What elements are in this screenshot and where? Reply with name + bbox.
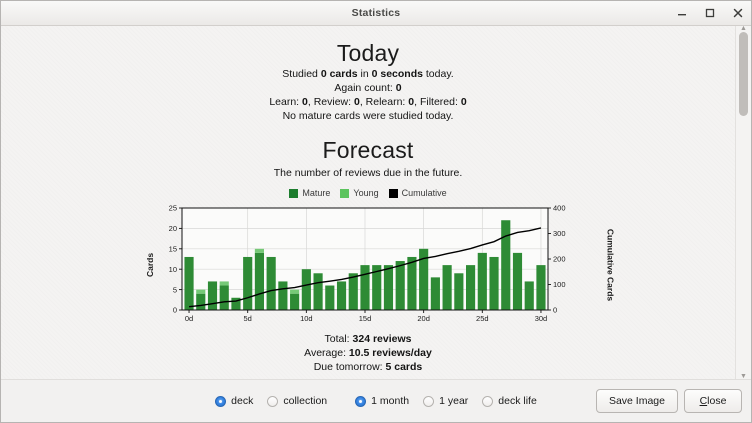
close-button-mnemonic: C — [700, 395, 708, 407]
studied-time: 0 seconds — [372, 68, 423, 80]
minimize-icon[interactable] — [675, 6, 689, 20]
radio-deck-life-indicator[interactable] — [482, 396, 493, 407]
window-controls — [675, 1, 745, 25]
radio-deck-indicator[interactable] — [215, 396, 226, 407]
svg-text:10: 10 — [169, 265, 177, 274]
svg-text:200: 200 — [553, 255, 566, 264]
svg-text:15: 15 — [169, 245, 177, 254]
radio-1-month-label: 1 month — [371, 395, 409, 407]
vertical-scrollbar[interactable]: ▲ ▼ — [735, 26, 751, 379]
today-breakdown-line: Learn: 0, Review: 0, Relearn: 0, Filtere… — [1, 95, 735, 109]
svg-text:10d: 10d — [300, 314, 313, 323]
radio-1-month[interactable]: 1 month — [355, 395, 409, 407]
radio-1-year-indicator[interactable] — [423, 396, 434, 407]
today-mature-line: No mature cards were studied today. — [1, 109, 735, 123]
svg-text:100: 100 — [553, 280, 566, 289]
due-tomorrow-line: Due tomorrow: 5 cards — [1, 360, 735, 374]
today-studied-line: Studied 0 cards in 0 seconds today. — [1, 67, 735, 81]
svg-text:0: 0 — [553, 306, 557, 315]
average-label: Average: — [304, 347, 349, 359]
legend-label-mature: Mature — [302, 188, 330, 198]
stats-scroll-area: Today Studied 0 cards in 0 seconds today… — [1, 26, 735, 379]
window-title: Statistics — [352, 7, 401, 19]
svg-text:5: 5 — [173, 285, 177, 294]
svg-text:20d: 20d — [417, 314, 430, 323]
learn-label: Learn: — [269, 96, 302, 108]
svg-text:25: 25 — [169, 204, 177, 213]
forecast-totals: Total: 324 reviews Average: 10.5 reviews… — [1, 332, 735, 374]
forecast-title: Forecast — [1, 137, 735, 164]
forecast-chart-svg: 051015202501002003004000d5d10d15d20d25d3… — [158, 204, 578, 326]
legend-item-mature: Mature — [289, 188, 330, 198]
y-axis-label-right: Cumulative Cards — [605, 229, 615, 301]
svg-text:25d: 25d — [476, 314, 489, 323]
footer-bar: deck collection 1 month 1 year — [1, 379, 751, 422]
legend-label-cumulative: Cumulative — [402, 188, 447, 198]
svg-text:0d: 0d — [185, 314, 193, 323]
close-icon[interactable] — [731, 6, 745, 20]
review-label: , Review: — [308, 96, 354, 108]
svg-text:5d: 5d — [244, 314, 252, 323]
total-line: Total: 324 reviews — [1, 332, 735, 346]
average-line: Average: 10.5 reviews/day — [1, 346, 735, 360]
y-axis-label-left: Cards — [145, 253, 155, 277]
svg-text:0: 0 — [173, 306, 177, 315]
filtered-value: 0 — [461, 96, 467, 108]
filtered-label: , Filtered: — [414, 96, 461, 108]
legend-swatch-cumulative — [389, 189, 398, 198]
radio-deck[interactable]: deck — [215, 395, 253, 407]
radio-deck-life-label: deck life — [498, 395, 537, 407]
total-value: 324 reviews — [353, 333, 412, 345]
legend-swatch-young — [340, 189, 349, 198]
svg-text:30d: 30d — [535, 314, 548, 323]
radio-1-month-indicator[interactable] — [355, 396, 366, 407]
studied-mid: in — [358, 68, 372, 80]
legend-swatch-mature — [289, 189, 298, 198]
radio-1-year-label: 1 year — [439, 395, 468, 407]
footer-buttons: Save Image Close — [596, 389, 742, 413]
scrollbar-thumb[interactable] — [739, 32, 748, 116]
svg-text:300: 300 — [553, 229, 566, 238]
radio-deck-label: deck — [231, 395, 253, 407]
studied-pre: Studied — [282, 68, 321, 80]
range-radio-group: 1 month 1 year deck life — [355, 395, 537, 407]
due-value: 5 cards — [386, 361, 423, 373]
average-value: 10.5 reviews/day — [349, 347, 432, 359]
legend-item-young: Young — [340, 188, 378, 198]
again-label: Again count: — [334, 82, 395, 94]
forecast-section: Forecast The number of reviews due in th… — [1, 123, 735, 374]
legend-label-young: Young — [353, 188, 378, 198]
studied-cards: 0 cards — [321, 68, 358, 80]
today-title: Today — [1, 40, 735, 67]
relearn-label: , Relearn: — [360, 96, 408, 108]
save-image-button[interactable]: Save Image — [596, 389, 678, 413]
radio-collection-indicator[interactable] — [267, 396, 278, 407]
scope-radio-group: deck collection — [215, 395, 327, 407]
studied-post: today. — [423, 68, 454, 80]
svg-text:15d: 15d — [359, 314, 372, 323]
due-label: Due tomorrow: — [314, 361, 386, 373]
radio-collection-label: collection — [283, 395, 327, 407]
maximize-icon[interactable] — [703, 6, 717, 20]
radio-1-year[interactable]: 1 year — [423, 395, 468, 407]
again-value: 0 — [396, 82, 402, 94]
close-button[interactable]: Close — [684, 389, 742, 413]
radio-deck-life[interactable]: deck life — [482, 395, 537, 407]
chart-legend: Mature Young Cumulative — [1, 188, 735, 198]
radio-collection[interactable]: collection — [267, 395, 327, 407]
total-label: Total: — [325, 333, 353, 345]
forecast-chart: Cards Cumulative Cards 05101520250100200… — [158, 204, 578, 326]
close-button-label: lose — [707, 395, 726, 407]
titlebar: Statistics — [1, 1, 751, 26]
statistics-window: Statistics Today Studied 0 cards in 0 se… — [0, 0, 752, 423]
window-content: Today Studied 0 cards in 0 seconds today… — [1, 26, 751, 379]
legend-item-cumulative: Cumulative — [389, 188, 447, 198]
today-again-line: Again count: 0 — [1, 81, 735, 95]
today-section: Today Studied 0 cards in 0 seconds today… — [1, 26, 735, 123]
svg-text:20: 20 — [169, 224, 177, 233]
svg-text:400: 400 — [553, 204, 566, 213]
forecast-description: The number of reviews due in the future. — [1, 164, 735, 179]
